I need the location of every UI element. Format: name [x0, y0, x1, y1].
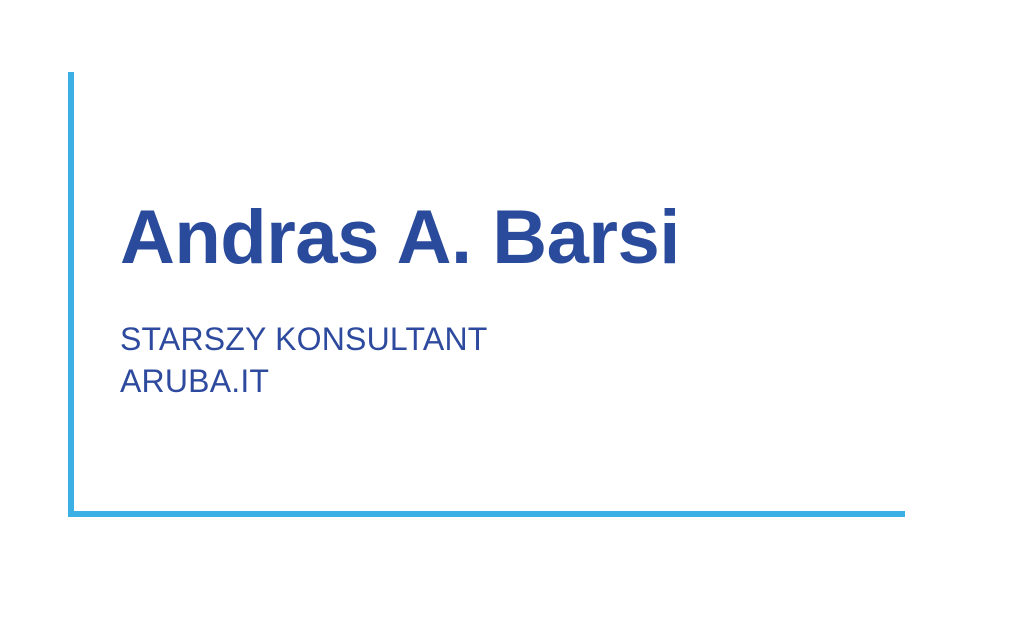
person-role-block: STARSZY KONSULTANT ARUBA.IT: [120, 276, 960, 402]
person-job-title: STARSZY KONSULTANT: [120, 318, 960, 360]
person-name: Andras A. Barsi: [120, 200, 960, 276]
accent-rule-vertical: [68, 72, 74, 517]
name-slide: Andras A. Barsi STARSZY KONSULTANT ARUBA…: [0, 0, 1024, 619]
person-company: ARUBA.IT: [120, 360, 960, 402]
accent-rule-horizontal: [68, 511, 905, 517]
identity-text-block: Andras A. Barsi STARSZY KONSULTANT ARUBA…: [120, 200, 960, 402]
